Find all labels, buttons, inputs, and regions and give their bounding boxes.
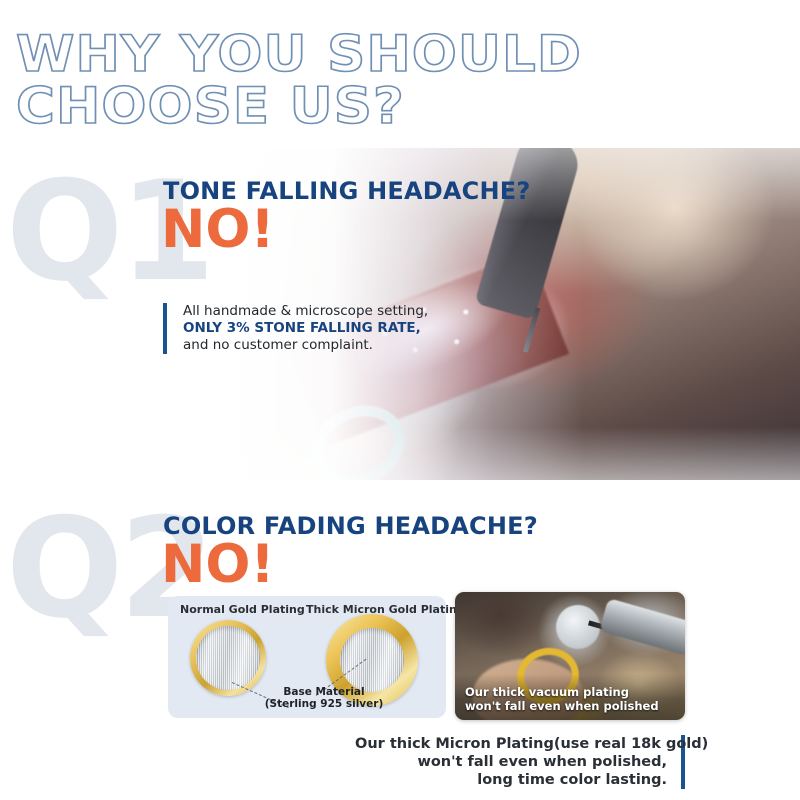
q1-quote-block: All handmade & microscope setting, ONLY … (163, 303, 428, 354)
gold-plating-comparison-panel: Normal Gold Plating Thick Micron Gold Pl… (168, 596, 446, 718)
base-material-line-2: (Sterling 925 silver) (244, 698, 404, 710)
page-title-line-1: WHY YOU SHOULD (16, 32, 779, 76)
q2-photo-caption: Our thick vacuum plating won't fall even… (465, 685, 659, 713)
thick-plating-base-core (340, 628, 404, 692)
thick-plating-label: Thick Micron Gold Plating (306, 603, 465, 616)
q2-photo-caption-line-1: Our thick vacuum plating (465, 685, 659, 699)
q1-quote-line-3: and no customer complaint. (183, 337, 428, 354)
q2-note-line-2: won't fall even when polished, (355, 753, 667, 771)
normal-plating-base-core (196, 626, 260, 690)
page-title: WHY YOU SHOULD CHOOSE US? (16, 32, 736, 128)
q2-photo: Our thick vacuum plating won't fall even… (455, 592, 685, 720)
q2-note-line-3: long time color lasting. (355, 771, 667, 789)
infographic-page: WHY YOU SHOULD CHOOSE US? Q1 TONE FALLIN… (0, 0, 800, 800)
q1-answer: NO! (161, 203, 275, 256)
q2-photo-caption-line-2: won't fall even when polished (465, 699, 659, 713)
page-title-line-2: CHOOSE US? (16, 84, 779, 128)
normal-plating-diagram (190, 620, 266, 696)
base-material-caption: Base Material (Sterling 925 silver) (244, 686, 404, 710)
q2-answer: NO! (161, 538, 275, 591)
q2-note-line-1: Our thick Micron Plating(use real 18k go… (355, 735, 667, 753)
q1-quote-line-1: All handmade & microscope setting, (183, 303, 428, 320)
base-material-line-1: Base Material (244, 686, 404, 698)
q2-bottom-note: Our thick Micron Plating(use real 18k go… (355, 735, 685, 789)
q1-quote-line-2: ONLY 3% STONE FALLING RATE, (183, 320, 428, 337)
normal-plating-label: Normal Gold Plating (180, 603, 305, 616)
